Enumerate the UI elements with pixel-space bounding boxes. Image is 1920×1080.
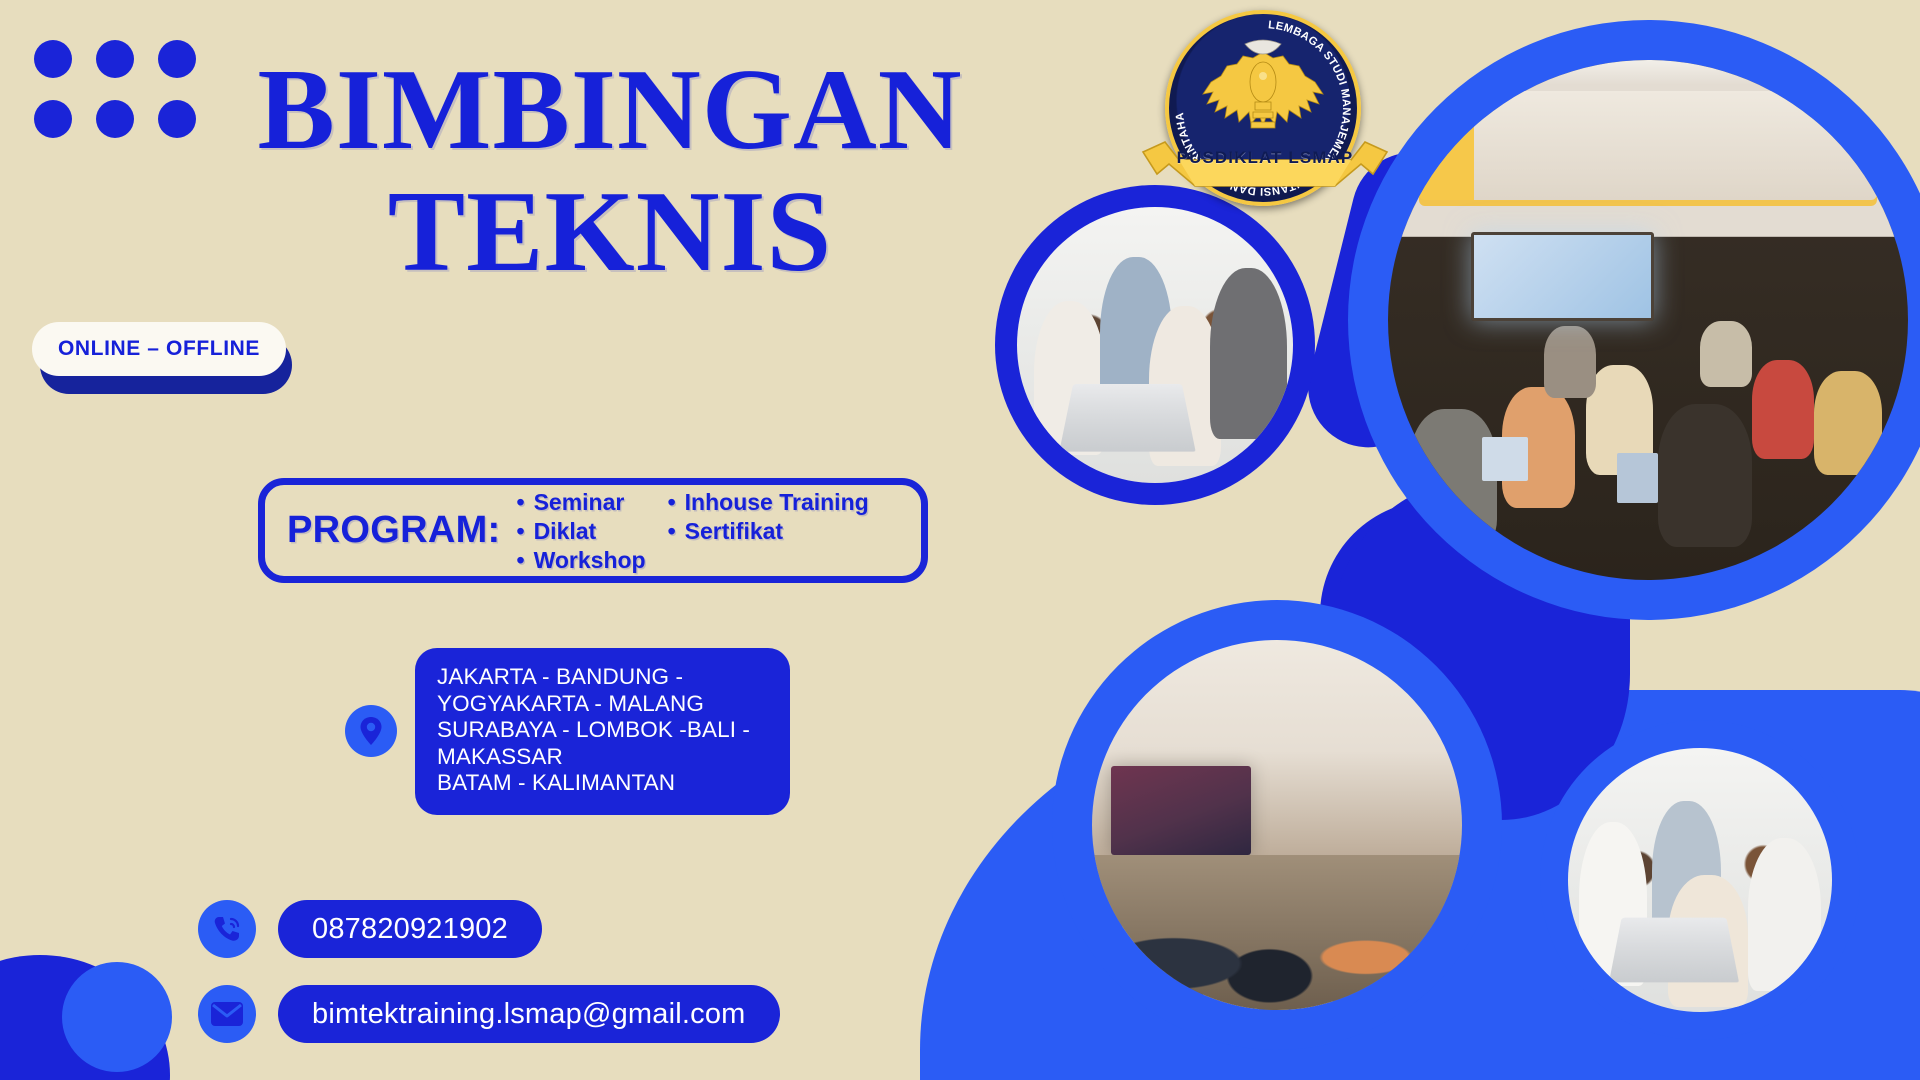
photo-laptop [1617,453,1659,503]
photo-figure [1752,360,1814,459]
program-item: Diklat [517,518,646,545]
envelope-icon [198,985,256,1043]
photo-figure [1122,862,1174,973]
photo-figure [1321,855,1369,951]
photo-team-meeting-bottom-image [1568,748,1832,1012]
photo-team-laptop-top [1017,207,1293,483]
locations-row: JAKARTA - BANDUNG - YOGYAKARTA - MALANG … [345,648,790,815]
page-title: BIMBINGAN TEKNIS [195,55,1025,287]
program-item: Workshop [517,547,646,574]
photo-laptop [1482,437,1529,481]
photo-seminar-hall [1388,60,1908,580]
photo-seminar-seats [1388,304,1908,580]
program-item: Seminar [517,489,646,516]
photo-figure [1544,326,1596,398]
photo-team-laptop-top-image [1017,207,1293,483]
photo-figure [1173,877,1232,995]
dot-icon [34,40,72,78]
photo-figure [1210,268,1287,439]
photo-figure [1748,838,1822,991]
map-pin-glyph [358,716,384,746]
photo-team-meeting-bottom [1568,748,1832,1012]
contact-email-row[interactable]: bimtektraining.lsmap@gmail.com [198,985,780,1043]
phone-value[interactable]: 087820921902 [278,900,542,958]
photo-chair [1203,943,1259,1010]
photo-figure [1579,822,1648,986]
program-item: Inhouse Training [668,489,869,516]
six-dots-decoration [34,40,196,138]
program-column-1: Seminar Diklat Workshop [517,489,646,574]
locations-box: JAKARTA - BANDUNG - YOGYAKARTA - MALANG … [415,648,790,815]
dot-icon [158,40,196,78]
photo-figure [1247,869,1306,987]
title-line-1: BIMBINGAN [195,55,1025,165]
logo-banner-text: PUSDIKLAT LSMAP [1135,148,1395,168]
dot-icon [158,100,196,138]
envelope-glyph [210,1001,244,1027]
location-line: SURABAYA - LOMBOK -BALI - [437,717,764,744]
mode-badge-body[interactable]: ONLINE – OFFLINE [32,322,286,376]
decorative-circle-bottom-left-light [62,962,172,1072]
mode-badge[interactable]: ONLINE – OFFLINE [32,322,286,376]
mode-badge-label: ONLINE – OFFLINE [58,337,260,361]
program-item: Sertifikat [668,518,869,545]
phone-ring-icon [198,900,256,958]
photo-classroom-training [1092,640,1462,1010]
organization-logo: LEMBAGA STUDI MANAJEMEN AKUNTANSI DAN PE… [1135,8,1395,213]
email-value[interactable]: bimtektraining.lsmap@gmail.com [278,985,780,1043]
location-line: YOGYAKARTA - MALANG [437,691,764,718]
program-column-2: Inhouse Training Sertifikat [668,489,869,545]
program-columns: Seminar Diklat Workshop Inhouse Training… [517,487,869,574]
dot-icon [96,40,134,78]
program-box: PROGRAM: Seminar Diklat Workshop Inhouse… [258,478,928,583]
photo-figure [1658,404,1752,547]
location-line: JAKARTA - BANDUNG - [437,664,764,691]
program-label: PROGRAM: [287,509,501,552]
photo-figure [1700,321,1752,387]
poster-canvas: LEMBAGA STUDI MANAJEMEN AKUNTANSI DAN PE… [0,0,1920,1080]
photo-classroom-training-image [1092,640,1462,1010]
photo-chair [1277,943,1333,1010]
dot-icon [34,100,72,138]
location-line: MAKASSAR [437,744,764,771]
location-line: BATAM - KALIMANTAN [437,770,764,797]
photo-seminar-hall-image [1388,60,1908,580]
title-line-2: TEKNIS [195,177,1025,287]
dot-icon [96,100,134,138]
photo-figure [1034,301,1106,456]
photo-figure [1814,371,1882,476]
contact-phone-row[interactable]: 087820921902 [198,900,542,958]
phone-ring-glyph [211,913,243,945]
photo-figure [1668,875,1747,1007]
map-pin-icon [345,705,397,757]
